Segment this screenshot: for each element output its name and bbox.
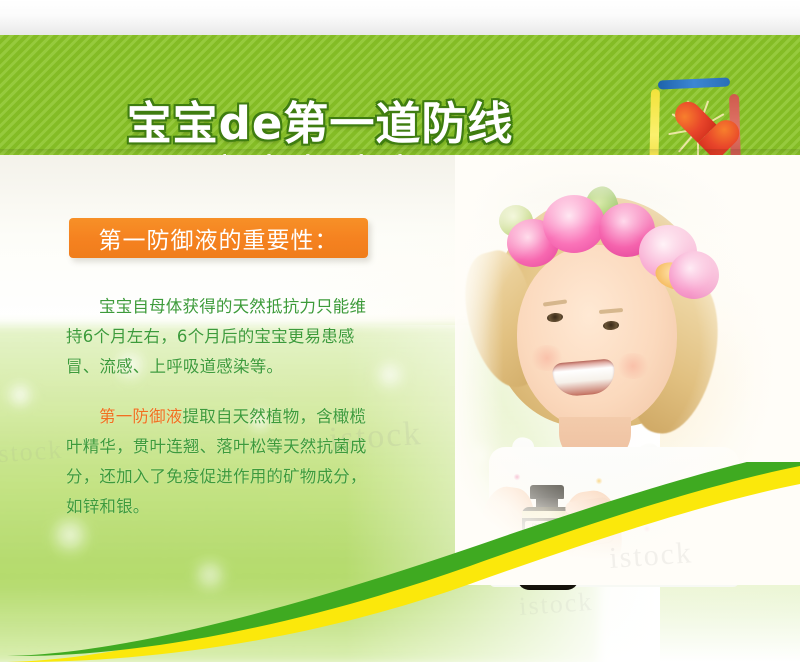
crayon-stroke-yellow-icon [649, 89, 660, 155]
top-gradient-strip [0, 0, 800, 35]
flower-crown [499, 185, 709, 295]
paragraph-1: 宝宝自母体获得的天然抵抗力只能维持6个月左右，6个月后的宝宝更易患感冒、流感、上… [66, 292, 378, 382]
heart-icon [672, 101, 724, 153]
paragraph-2: 第一防御液提取自天然植物，含橄榄叶精华，贯叶连翘、落叶松等天然抗菌成分，还加入了… [66, 402, 378, 522]
paragraph-2-highlight: 第一防御液 [99, 407, 183, 426]
body-copy: 宝宝自母体获得的天然抵抗力只能维持6个月左右，6个月后的宝宝更易患感冒、流感、上… [66, 292, 378, 522]
page-title: 宝宝de第一道防线 [0, 87, 640, 152]
flower-pink-2 [543, 195, 605, 253]
crayon-stroke-blue-icon [658, 77, 730, 89]
crayon-heart-icon [648, 77, 756, 155]
product-detail-page: 宝宝de第一道防线 Baby's first line of Defense [0, 0, 800, 662]
section-heading-label: 第一防御液的重要性： [99, 221, 339, 255]
flower-pink-4 [669, 251, 719, 299]
header-banner: 宝宝de第一道防线 Baby's first line of Defense [0, 35, 800, 155]
cheek-right [615, 353, 651, 379]
section-heading-banner: 第一防御液的重要性： [69, 218, 368, 258]
